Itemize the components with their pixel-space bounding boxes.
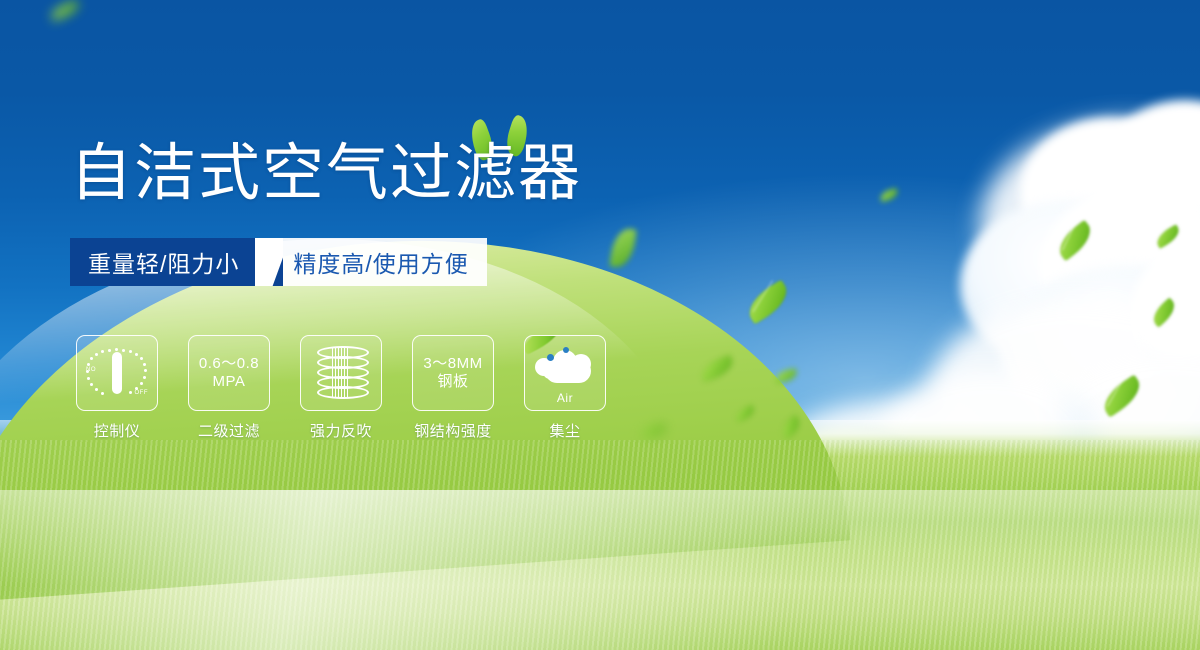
pressure-text-icon: 0.6～0.8 MPA (199, 355, 259, 392)
feature-icon-box: Air (524, 335, 606, 411)
leaf-icon (774, 368, 798, 384)
feature-text-line: 0.6～0.8 (199, 355, 259, 373)
page-title: 自洁式空气过滤器 (70, 143, 582, 205)
feature-icon-box: 0.6～0.8 MPA (188, 335, 270, 411)
feature-label: 集尘 (549, 420, 580, 441)
gauge-dial-icon: NO OFF (86, 343, 148, 403)
subtitle-left: 重量轻/阻力小 (70, 238, 255, 286)
feature-text-line: MPA (199, 373, 259, 391)
leaf-icon (1053, 220, 1097, 261)
feature-text-line: 钢板 (423, 373, 482, 391)
feature-text-line: 3～8MM (423, 355, 482, 373)
feature-item[interactable]: NO OFF (70, 335, 164, 441)
subtitle-right: 精度高/使用方便 (283, 238, 486, 286)
feature-list: NO OFF (70, 335, 612, 441)
feature-label: 二级过滤 (198, 420, 260, 441)
feature-icon-box: NO OFF (76, 335, 158, 411)
leaf-icon (698, 355, 736, 383)
subtitle-badge: 重量轻/阻力小 精度高/使用方便 (70, 238, 487, 286)
feature-label: 控制仪 (94, 420, 141, 441)
air-cloud-icon: Air (533, 345, 597, 401)
product-banner: 自洁式空气过滤器 重量轻/阻力小 精度高/使用方便 NO OFF (0, 0, 1200, 650)
feature-item[interactable]: Air 集尘 (518, 335, 612, 441)
dial-off-label: OFF (135, 390, 149, 396)
feature-item[interactable]: 3～8MM 钢板 钢结构强度 (406, 335, 500, 441)
leaf-icon (639, 424, 666, 439)
air-label: Air (533, 391, 597, 405)
feature-item[interactable]: 强力反吹 (294, 335, 388, 441)
leaf-icon (1098, 375, 1147, 418)
leaf-icon (879, 188, 899, 202)
subtitle-divider (255, 238, 283, 286)
leaf-icon (778, 415, 804, 440)
feature-label: 强力反吹 (310, 420, 372, 441)
leaf-icon (49, 0, 82, 21)
feature-icon-box (300, 335, 382, 411)
coil-spring-icon (313, 344, 369, 402)
feature-icon-box: 3～8MM 钢板 (412, 335, 494, 411)
floating-leaves-layer (0, 0, 1200, 650)
feature-item[interactable]: 0.6～0.8 MPA 二级过滤 (182, 335, 276, 441)
leaf-icon (742, 280, 794, 325)
steel-plate-text-icon: 3～8MM 钢板 (423, 355, 482, 392)
feature-label: 钢结构强度 (414, 420, 492, 441)
leaf-icon (1149, 298, 1180, 328)
leaf-icon (1153, 224, 1182, 248)
leaf-icon (734, 405, 757, 423)
leaf-icon (609, 227, 636, 270)
